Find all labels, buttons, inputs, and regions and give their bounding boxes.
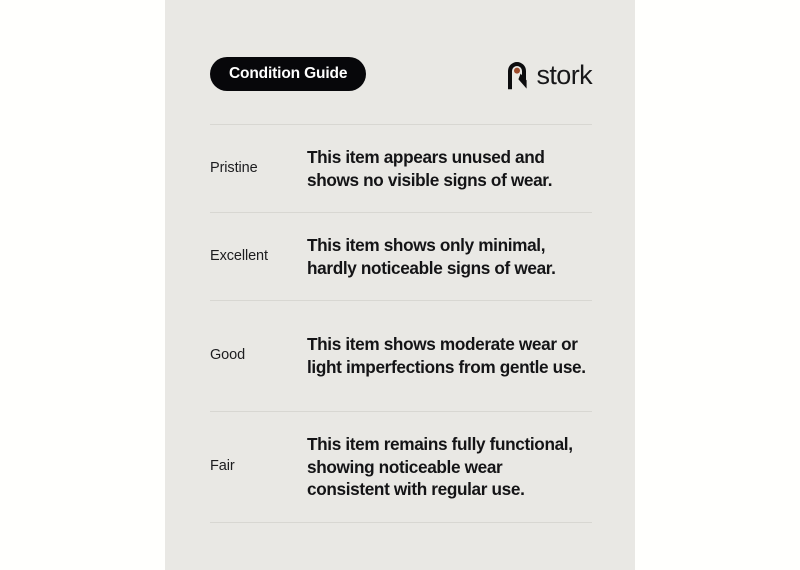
table-row: Good This item shows moderate wear or li… (210, 301, 592, 411)
stork-wordmark: stork (536, 62, 592, 89)
card-header: Condition Guide stork (210, 57, 592, 91)
condition-description: This item shows moderate wear or light i… (307, 333, 592, 379)
table-divider-bottom (210, 522, 592, 523)
condition-guide-card: Condition Guide stork Pristine This item (165, 0, 635, 570)
condition-table: Pristine This item appears unused and sh… (210, 124, 592, 523)
condition-description: This item appears unused and shows no vi… (307, 146, 592, 192)
table-row: Pristine This item appears unused and sh… (210, 125, 592, 212)
condition-label: Excellent (210, 248, 307, 265)
condition-label: Fair (210, 458, 307, 475)
condition-label: Pristine (210, 160, 307, 177)
page-root: Condition Guide stork Pristine This item (0, 0, 800, 570)
brand-lockup: stork (505, 57, 592, 91)
stork-arch-logo-icon (505, 59, 529, 90)
condition-description: This item remains fully functional, show… (307, 433, 592, 502)
table-row: Fair This item remains fully functional,… (210, 412, 592, 522)
table-row: Excellent This item shows only minimal, … (210, 213, 592, 300)
condition-guide-badge: Condition Guide (210, 57, 366, 91)
condition-description: This item shows only minimal, hardly not… (307, 234, 592, 280)
condition-label: Good (210, 347, 307, 364)
